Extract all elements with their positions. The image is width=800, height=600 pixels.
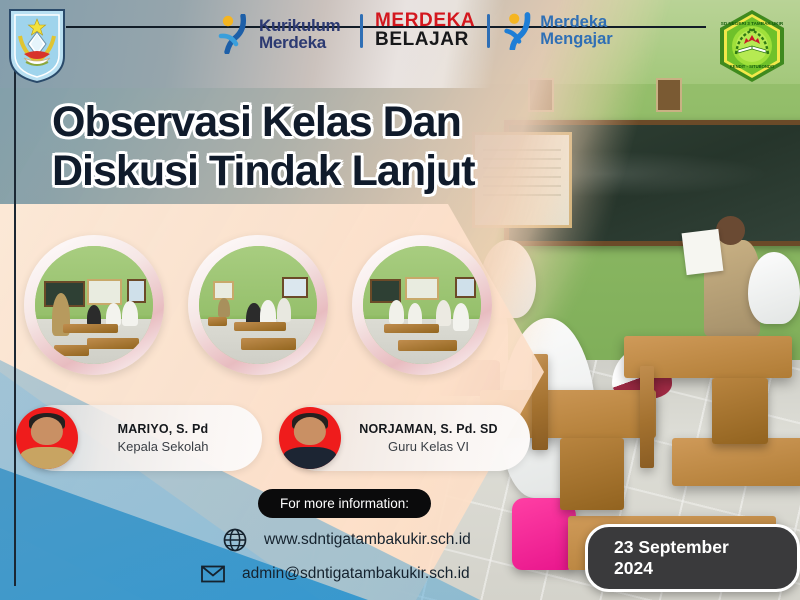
contact-row-website: www.sdntigatambakukir.sch.id bbox=[222, 527, 471, 553]
mini-desk-8 bbox=[398, 340, 457, 351]
mini-teacher-2 bbox=[218, 298, 230, 317]
photo-circle-3 bbox=[352, 235, 492, 375]
person-role: Kepala Sekolah bbox=[78, 439, 248, 454]
poster-title: Observasi Kelas Dan Diskusi Tindak Lanju… bbox=[52, 98, 572, 196]
mini-window-1 bbox=[127, 279, 146, 303]
photo-circle-row bbox=[24, 235, 492, 375]
globe-icon bbox=[222, 527, 248, 553]
envelope-icon bbox=[200, 561, 226, 587]
mini-screen-1 bbox=[87, 279, 122, 305]
logo-group-right: MERDEKA BELAJAR Merdeka Mengajar bbox=[360, 12, 613, 50]
kurikulum-line1: Kurikulum bbox=[259, 17, 340, 34]
date-badge: 23 September 2024 bbox=[585, 524, 800, 592]
title-line-2: Diskusi Tindak Lanjut bbox=[52, 147, 572, 196]
more-information-pill: For more information: bbox=[258, 489, 431, 518]
avatar bbox=[16, 407, 78, 469]
mini-student-8 bbox=[408, 303, 422, 327]
contact-row-email: admin@sdntigatambakukir.sch.id bbox=[200, 561, 471, 587]
photo-circle-1 bbox=[24, 235, 164, 375]
logo-divider-1 bbox=[360, 14, 363, 48]
title-line-1: Observasi Kelas Dan bbox=[52, 98, 572, 147]
mengajar-line1: Merdeka bbox=[540, 14, 612, 31]
website-text[interactable]: www.sdntigatambakukir.sch.id bbox=[264, 531, 471, 549]
merdeka-mengajar-text: Merdeka Mengajar bbox=[540, 14, 612, 49]
mini-desk-2 bbox=[87, 338, 139, 349]
merdeka-belajar-line2: BELAJAR bbox=[375, 31, 475, 50]
mini-student-7 bbox=[389, 300, 404, 324]
poster-canvas: SD NEGERI 3 TAMBAK UKIR KENDIT - SITUBON… bbox=[0, 0, 800, 600]
avatar-uniform bbox=[20, 447, 73, 469]
email-text[interactable]: admin@sdntigatambakukir.sch.id bbox=[242, 565, 470, 583]
person-name: NORJAMAN, S. Pd. SD bbox=[341, 422, 516, 436]
mini-student-6 bbox=[277, 298, 291, 322]
school-emblem-logo: SD NEGERI 3 TAMBAK UKIR KENDIT - SITUBON… bbox=[716, 8, 788, 84]
person-name: MARIYO, S. Pd bbox=[78, 422, 248, 436]
mini-screen-3 bbox=[405, 277, 438, 301]
mini-desk-1 bbox=[63, 324, 117, 333]
kurikulum-line2: Merdeka bbox=[259, 34, 340, 51]
person-role: Guru Kelas VI bbox=[341, 439, 516, 454]
photo-circle-2 bbox=[188, 235, 328, 375]
mini-blackboard-3 bbox=[370, 279, 401, 303]
kurikulum-merdeka-logo: Kurikulum Merdeka bbox=[218, 10, 340, 58]
svg-text:SD NEGERI 3 TAMBAK UKIR: SD NEGERI 3 TAMBAK UKIR bbox=[721, 21, 784, 26]
merdeka-mengajar-logo: Merdeka Mengajar bbox=[502, 12, 612, 50]
mini-desk-6 bbox=[208, 317, 227, 326]
mengajar-line2: Mengajar bbox=[540, 31, 612, 48]
merdeka-belajar-logo: MERDEKA BELAJAR bbox=[375, 12, 475, 49]
person-card-principal: MARIYO, S. Pd Kepala Sekolah bbox=[22, 405, 262, 471]
avatar bbox=[279, 407, 341, 469]
mini-window-3 bbox=[455, 277, 476, 298]
mini-student-3 bbox=[122, 301, 137, 326]
mini-desk-3 bbox=[54, 345, 89, 356]
logo-divider-2 bbox=[487, 14, 490, 48]
mini-desk-5 bbox=[241, 338, 295, 350]
contact-block: www.sdntigatambakukir.sch.id admin@sdnti… bbox=[222, 527, 471, 595]
frame-line-left bbox=[14, 26, 16, 586]
avatar-head bbox=[31, 417, 63, 446]
svg-text:KENDIT - SITUBONDO: KENDIT - SITUBONDO bbox=[730, 64, 775, 69]
mini-window-2 bbox=[282, 277, 308, 298]
person-card-teacher: NORJAMAN, S. Pd. SD Guru Kelas VI bbox=[285, 405, 530, 471]
kurikulum-merdeka-text: Kurikulum Merdeka bbox=[259, 17, 340, 52]
mini-desk-7 bbox=[384, 324, 438, 333]
regency-emblem-logo bbox=[6, 6, 68, 84]
avatar-head bbox=[294, 417, 326, 446]
avatar-uniform bbox=[283, 447, 336, 469]
kurikulum-merdeka-icon bbox=[218, 14, 252, 54]
merdeka-mengajar-icon bbox=[502, 12, 534, 50]
mini-desk-4 bbox=[234, 322, 286, 331]
